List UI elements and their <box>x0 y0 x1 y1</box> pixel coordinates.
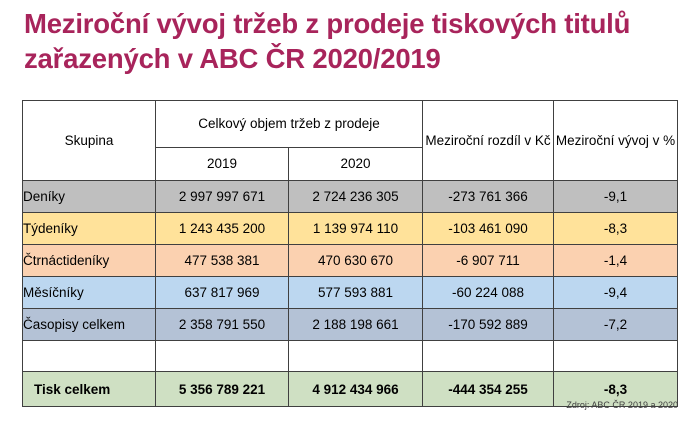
row-label: Týdeníky <box>23 213 156 245</box>
total-diff-czk: -444 354 255 <box>423 372 554 407</box>
table-row: Měsíčníky637 817 969577 593 881-60 224 0… <box>23 277 678 309</box>
cell-2019: 2 358 791 550 <box>156 309 289 341</box>
cell-2020: 577 593 881 <box>289 277 423 309</box>
cell-2020: 2 724 236 305 <box>289 181 423 213</box>
table-body: Deníky2 997 997 6712 724 236 305-273 761… <box>23 181 678 407</box>
column-header-diff-pct: Meziroční vývoj v % <box>554 101 678 181</box>
cell-2020: 1 139 974 110 <box>289 213 423 245</box>
column-header-2020: 2020 <box>289 148 423 181</box>
page-title: Meziroční vývoj tržeb z prodeje tiskovýc… <box>24 6 684 76</box>
cell-2020: 470 630 670 <box>289 245 423 277</box>
spacer-cell <box>554 341 678 372</box>
cell-2020: 2 188 198 661 <box>289 309 423 341</box>
column-header-diff-czk: Meziroční rozdíl v Kč <box>423 101 554 181</box>
column-header-2019: 2019 <box>156 148 289 181</box>
cell-2019: 637 817 969 <box>156 277 289 309</box>
cell-diff-czk: -170 592 889 <box>423 309 554 341</box>
sales-table-container: Skupina Celkový objem tržeb z prodeje Me… <box>22 100 677 407</box>
cell-diff-pct: -9,4 <box>554 277 678 309</box>
spacer-cell <box>156 341 289 372</box>
cell-diff-czk: -6 907 711 <box>423 245 554 277</box>
table-spacer-row <box>23 341 678 372</box>
cell-2019: 477 538 381 <box>156 245 289 277</box>
cell-diff-pct: -9,1 <box>554 181 678 213</box>
column-header-total-volume: Celkový objem tržeb z prodeje <box>156 101 423 148</box>
table-row: Týdeníky1 243 435 2001 139 974 110-103 4… <box>23 213 678 245</box>
spacer-cell <box>23 341 156 372</box>
row-label: Měsíčníky <box>23 277 156 309</box>
source-note: Zdroj: ABC ČR 2019 a 2020 <box>566 400 678 410</box>
row-label: Deníky <box>23 181 156 213</box>
sales-table: Skupina Celkový objem tržeb z prodeje Me… <box>22 100 678 407</box>
cell-diff-pct: -8,3 <box>554 213 678 245</box>
table-row: Deníky2 997 997 6712 724 236 305-273 761… <box>23 181 678 213</box>
spacer-cell <box>289 341 423 372</box>
table-row: Čtrnáctideníky477 538 381470 630 670-6 9… <box>23 245 678 277</box>
cell-diff-pct: -1,4 <box>554 245 678 277</box>
cell-diff-czk: -273 761 366 <box>423 181 554 213</box>
total-label: Tisk celkem <box>23 372 156 407</box>
cell-2019: 1 243 435 200 <box>156 213 289 245</box>
cell-2019: 2 997 997 671 <box>156 181 289 213</box>
cell-diff-pct: -7,2 <box>554 309 678 341</box>
header-row-top: Skupina Celkový objem tržeb z prodeje Me… <box>23 101 678 148</box>
row-label: Časopisy celkem <box>23 309 156 341</box>
row-label: Čtrnáctideníky <box>23 245 156 277</box>
total-2020: 4 912 434 966 <box>289 372 423 407</box>
spacer-cell <box>423 341 554 372</box>
table-header: Skupina Celkový objem tržeb z prodeje Me… <box>23 101 678 181</box>
table-row: Časopisy celkem2 358 791 5502 188 198 66… <box>23 309 678 341</box>
cell-diff-czk: -60 224 088 <box>423 277 554 309</box>
cell-diff-czk: -103 461 090 <box>423 213 554 245</box>
column-header-group: Skupina <box>23 101 156 181</box>
total-2019: 5 356 789 221 <box>156 372 289 407</box>
